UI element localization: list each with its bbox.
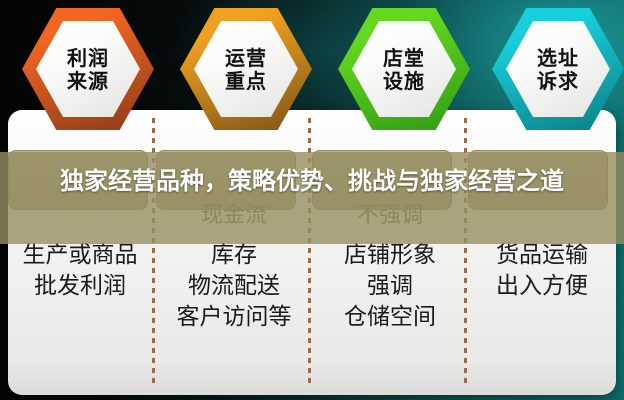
infographic-stage: 生产或商品批发利润现金流库存物流配送客户访问等不强调店铺形象强调仓储空间货品运输…: [0, 0, 624, 400]
hexagon-border-store-facility: 店堂设施: [338, 8, 470, 130]
hexagon-label-line1: 选址: [537, 47, 579, 69]
hexagon-border-site-requirement: 选址诉求: [492, 8, 624, 130]
hexagon-label-line1: 运营: [225, 47, 267, 69]
hexagon-label-line2: 诉求: [537, 70, 579, 92]
column-site-body: 货品运输出入方便: [468, 240, 616, 302]
hexagon-face-site-requirement: 选址诉求: [506, 21, 610, 117]
hexagon-face-operation-focus: 运营重点: [194, 21, 298, 117]
hexagon-store-facility[interactable]: 店堂设施: [338, 8, 470, 130]
overlay-title: 独家经营品种，策略优势、挑战与独家经营之道: [0, 165, 624, 197]
list-item: 物流配送: [156, 271, 312, 302]
list-item: 店铺形象: [312, 240, 468, 271]
hexagon-label-line2: 设施: [383, 70, 425, 92]
hexagon-row: 利润来源运营重点店堂设施选址诉求: [0, 0, 624, 150]
hexagon-site-requirement[interactable]: 选址诉求: [492, 8, 624, 130]
list-item: 强调: [312, 271, 468, 302]
hexagon-label-line1: 店堂: [383, 47, 425, 69]
list-item: 库存: [156, 240, 312, 271]
hexagon-label-line2: 来源: [67, 70, 109, 92]
list-item: 货品运输: [468, 240, 616, 271]
hexagon-label-line1: 利润: [67, 47, 109, 69]
hexagon-border-operation-focus: 运营重点: [180, 8, 312, 130]
list-item: 仓储空间: [312, 302, 468, 333]
hexagon-face-store-facility: 店堂设施: [352, 21, 456, 117]
column-profit-body: 生产或商品批发利润: [8, 240, 152, 302]
list-item: 客户访问等: [156, 302, 312, 333]
list-item: 生产或商品: [8, 240, 152, 271]
column-store-body: 店铺形象强调仓储空间: [312, 240, 468, 333]
hexagon-profit-source[interactable]: 利润来源: [22, 8, 154, 130]
hexagon-operation-focus[interactable]: 运营重点: [180, 8, 312, 130]
hexagon-border-profit-source: 利润来源: [22, 8, 154, 130]
hexagon-face-profit-source: 利润来源: [36, 21, 140, 117]
list-item: 批发利润: [8, 271, 152, 302]
column-operation-body: 库存物流配送客户访问等: [156, 240, 312, 333]
list-item: 出入方便: [468, 271, 616, 302]
hexagon-label-line2: 重点: [225, 70, 267, 92]
